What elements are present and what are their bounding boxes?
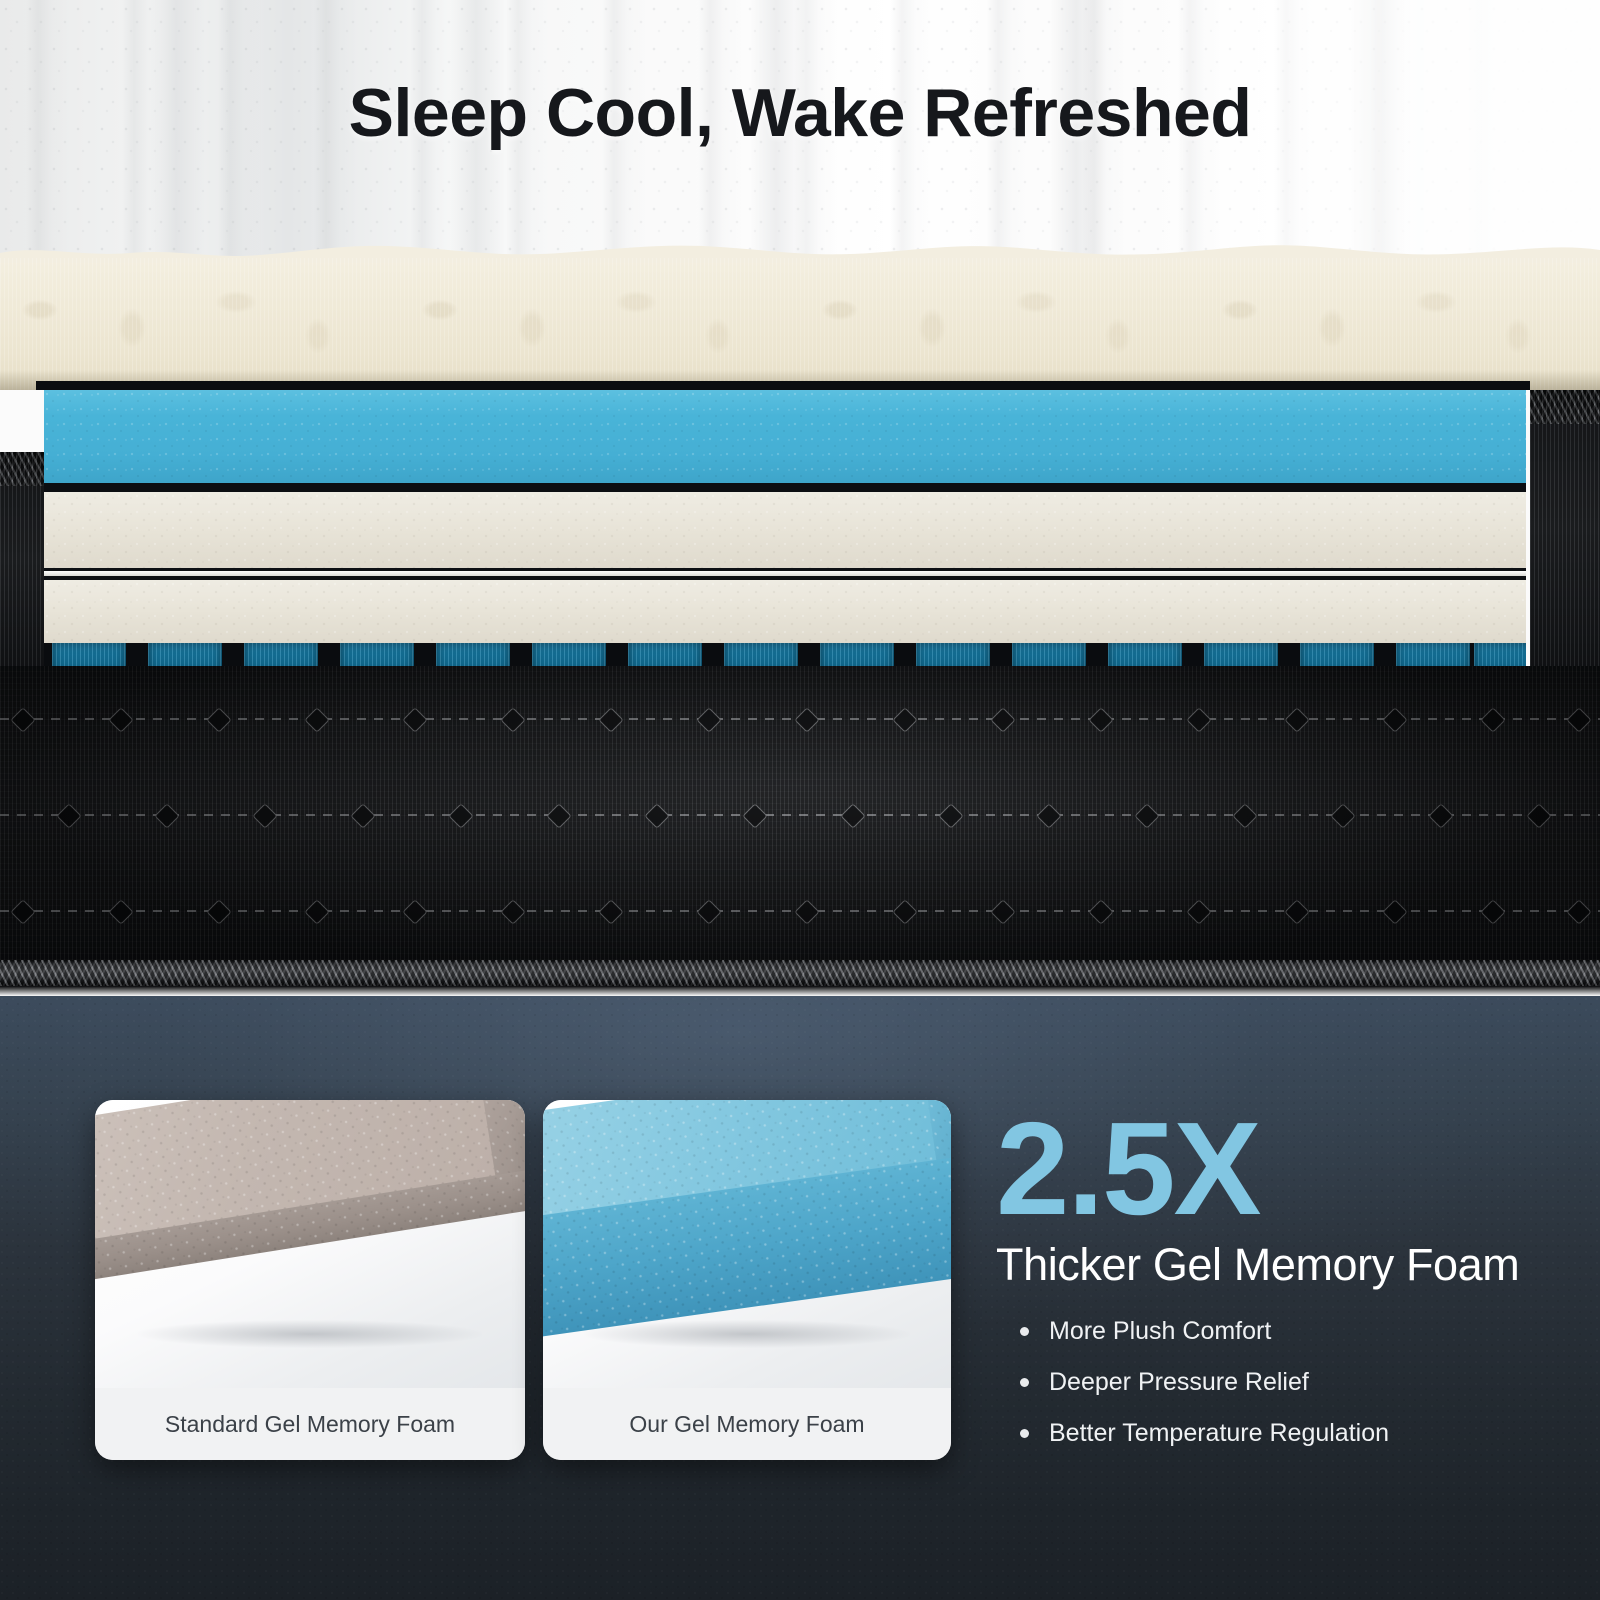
mattress-scene: Sleep Cool, Wake Refreshed xyxy=(0,0,1600,1000)
mattress-side-panel xyxy=(0,666,1600,966)
gel-foam-texture xyxy=(44,390,1526,483)
piping-drop-shadow xyxy=(0,986,1600,996)
left-edge-knit xyxy=(0,452,44,668)
standard-foam-image xyxy=(95,1100,525,1388)
comfort-foam-texture xyxy=(44,492,1526,568)
cutaway-top-border xyxy=(36,381,1530,390)
mattress-bottom-piping xyxy=(0,960,1600,986)
standard-foam-shadow xyxy=(138,1320,482,1348)
bullet-dot-icon xyxy=(1020,1378,1029,1387)
pillow-top-layer xyxy=(0,258,1600,390)
card-standard-foam-caption: Standard Gel Memory Foam xyxy=(95,1388,525,1460)
callout-block: 2.5X Thicker Gel Memory Foam More Plush … xyxy=(996,1108,1586,1470)
card-standard-foam[interactable]: Standard Gel Memory Foam xyxy=(95,1100,525,1460)
benefits-list: More Plush Comfort Deeper Pressure Relie… xyxy=(996,1317,1586,1448)
layer-comfort-foam-upper xyxy=(44,492,1526,568)
side-panel-vignette xyxy=(0,666,1600,966)
transition-foam-texture xyxy=(44,580,1526,643)
layer-separator-band xyxy=(44,568,1526,580)
mattress-right-edge xyxy=(1530,390,1600,668)
right-edge-knit xyxy=(1530,390,1600,668)
page-title: Sleep Cool, Wake Refreshed xyxy=(0,74,1600,152)
benefit-label: Deeper Pressure Relief xyxy=(1049,1368,1309,1397)
benefit-label: More Plush Comfort xyxy=(1049,1317,1271,1346)
bullet-dot-icon xyxy=(1020,1327,1029,1336)
standard-foam-slab xyxy=(95,1100,525,1329)
list-item: Deeper Pressure Relief xyxy=(996,1368,1586,1397)
our-foam-image xyxy=(543,1100,951,1388)
layer-transition-foam xyxy=(44,580,1526,643)
card-our-foam[interactable]: Our Gel Memory Foam xyxy=(543,1100,951,1460)
infographic-root: Sleep Cool, Wake Refreshed Standard Gel … xyxy=(0,0,1600,1600)
list-item: More Plush Comfort xyxy=(996,1317,1586,1346)
bullet-dot-icon xyxy=(1020,1429,1029,1438)
mattress-left-edge xyxy=(0,452,44,668)
layer-separator-1 xyxy=(44,483,1526,492)
list-item: Better Temperature Regulation xyxy=(996,1419,1586,1448)
piping-weave-texture xyxy=(0,960,1600,986)
callout-subtitle: Thicker Gel Memory Foam xyxy=(996,1239,1586,1291)
benefit-label: Better Temperature Regulation xyxy=(1049,1419,1389,1448)
multiplier-headline: 2.5X xyxy=(996,1108,1586,1229)
layer-gel-memory-foam xyxy=(44,390,1526,483)
card-our-foam-caption: Our Gel Memory Foam xyxy=(543,1388,951,1460)
our-foam-shadow xyxy=(584,1320,910,1348)
